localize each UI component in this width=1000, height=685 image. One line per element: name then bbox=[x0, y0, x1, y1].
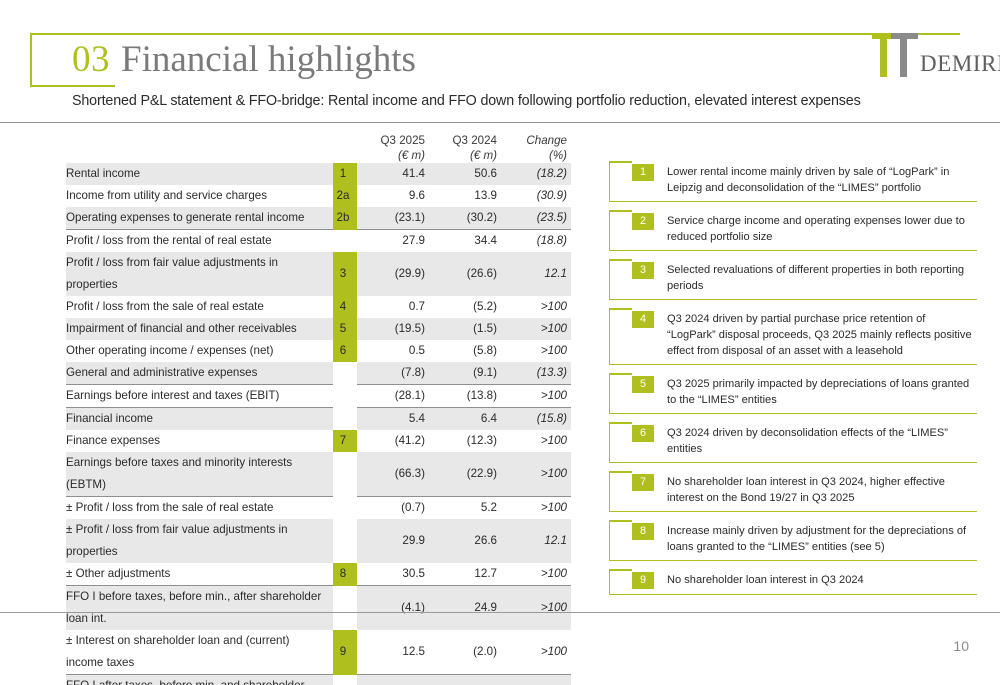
note-inner: 7No shareholder loan interest in Q3 2024… bbox=[610, 474, 977, 506]
row-value-q3-2025: (0.7) bbox=[357, 497, 429, 520]
header-blank-2 bbox=[66, 148, 333, 163]
row-badge-empty bbox=[333, 385, 357, 408]
row-value-q3-2024: (22.9) bbox=[429, 452, 501, 497]
row-value-q3-2025: (66.3) bbox=[357, 452, 429, 497]
row-value-change: >100 bbox=[501, 563, 571, 586]
table-row: Earnings before taxes and minority inter… bbox=[66, 452, 571, 497]
row-value-q3-2024: 12.7 bbox=[429, 563, 501, 586]
row-value-change: >100 bbox=[501, 385, 571, 408]
row-badge-empty bbox=[333, 586, 357, 631]
header-blank-badge-2 bbox=[333, 148, 357, 163]
row-value-q3-2024: (9.1) bbox=[429, 362, 501, 385]
note-badge[interactable]: 9 bbox=[632, 572, 654, 589]
row-value-q3-2024: 26.6 bbox=[429, 519, 501, 563]
row-value-q3-2024: (26.6) bbox=[429, 252, 501, 296]
demire-logo-mark-icon bbox=[872, 33, 918, 77]
row-value-q3-2025: (29.9) bbox=[357, 252, 429, 296]
table-row: Other operating income / expenses (net)6… bbox=[66, 340, 571, 362]
note-inner: 5Q3 2025 primarily impacted by depreciat… bbox=[610, 376, 977, 408]
row-value-change: >100 bbox=[501, 430, 571, 452]
row-value-q3-2024: 24.9 bbox=[429, 586, 501, 631]
row-value-q3-2025: (41.2) bbox=[357, 430, 429, 452]
demire-logo: DEMIRE bbox=[872, 33, 1000, 77]
table-row: Profit / loss from fair value adjustment… bbox=[66, 252, 571, 296]
row-value-q3-2025: 8.3 bbox=[357, 675, 429, 685]
row-value-change: (18.2) bbox=[501, 163, 571, 185]
header-unit-2024: (€ m) bbox=[429, 148, 501, 163]
note-text: Q3 2025 primarily impacted by depreciati… bbox=[667, 376, 977, 408]
row-badge-empty bbox=[333, 519, 357, 563]
row-label: Profit / loss from the rental of real es… bbox=[66, 230, 333, 253]
table-row: ± Profit / loss from fair value adjustme… bbox=[66, 519, 571, 563]
row-label: Rental income bbox=[66, 163, 333, 185]
row-value-change: (13.3) bbox=[501, 362, 571, 385]
row-value-change: >100 bbox=[501, 452, 571, 497]
page-number: 10 bbox=[953, 638, 969, 654]
note-badge[interactable]: 6 bbox=[632, 425, 654, 442]
note-item: 6Q3 2024 driven by deconsolidation effec… bbox=[609, 422, 977, 463]
row-note-badge[interactable]: 2b bbox=[333, 207, 357, 230]
header-row-primary: Q3 2025 Q3 2024 Change bbox=[66, 133, 571, 148]
note-item: 7No shareholder loan interest in Q3 2024… bbox=[609, 471, 977, 512]
row-badge-empty bbox=[333, 362, 357, 385]
row-value-q3-2025: (4.1) bbox=[357, 586, 429, 631]
footer-divider bbox=[0, 612, 1000, 613]
row-label: Finance expenses bbox=[66, 430, 333, 452]
note-inner: 3Selected revaluations of different prop… bbox=[610, 262, 977, 294]
row-label: Impairment of financial and other receiv… bbox=[66, 318, 333, 340]
note-badge[interactable]: 3 bbox=[632, 262, 654, 279]
slide: 03 Financial highlights Shortened P&L st… bbox=[0, 0, 1000, 685]
note-inner: 9No shareholder loan interest in Q3 2024 bbox=[610, 572, 977, 589]
row-label: Operating expenses to generate rental in… bbox=[66, 207, 333, 230]
row-label: Other operating income / expenses (net) bbox=[66, 340, 333, 362]
note-item: 1Lower rental income mainly driven by sa… bbox=[609, 161, 977, 202]
row-value-q3-2025: 0.7 bbox=[357, 296, 429, 318]
table-row: Rental income141.450.6(18.2) bbox=[66, 163, 571, 185]
row-label: ± Interest on shareholder loan and (curr… bbox=[66, 630, 333, 675]
header-top-line bbox=[30, 33, 960, 35]
table-row: ± Interest on shareholder loan and (curr… bbox=[66, 630, 571, 675]
row-value-q3-2025: 0.5 bbox=[357, 340, 429, 362]
row-label: ± Other adjustments bbox=[66, 563, 333, 586]
table-row: Profit / loss from the sale of real esta… bbox=[66, 296, 571, 318]
row-value-q3-2024: 13.9 bbox=[429, 185, 501, 207]
row-value-q3-2025: 27.9 bbox=[357, 230, 429, 253]
note-badge[interactable]: 8 bbox=[632, 523, 654, 540]
note-inner: 8Increase mainly driven by adjustment fo… bbox=[610, 523, 977, 555]
row-label: FFO I after taxes, before min. and share… bbox=[66, 675, 333, 685]
row-value-q3-2024: 6.4 bbox=[429, 408, 501, 431]
table-row: General and administrative expenses(7.8)… bbox=[66, 362, 571, 385]
row-value-q3-2024: 50.6 bbox=[429, 163, 501, 185]
note-item: 9No shareholder loan interest in Q3 2024 bbox=[609, 569, 977, 595]
page-title: 03 Financial highlights bbox=[72, 38, 416, 81]
row-value-q3-2025: 12.5 bbox=[357, 630, 429, 675]
table-row: ± Other adjustments830.512.7>100 bbox=[66, 563, 571, 586]
table-row: ± Profit / loss from the sale of real es… bbox=[66, 497, 571, 520]
note-inner: 6Q3 2024 driven by deconsolidation effec… bbox=[610, 425, 977, 457]
row-value-q3-2025: 9.6 bbox=[357, 185, 429, 207]
row-label: Profit / loss from fair value adjustment… bbox=[66, 252, 333, 296]
note-item: 5Q3 2025 primarily impacted by depreciat… bbox=[609, 373, 977, 414]
note-badge[interactable]: 2 bbox=[632, 213, 654, 230]
note-inner: 1Lower rental income mainly driven by sa… bbox=[610, 164, 977, 196]
row-value-q3-2024: 23.0 bbox=[429, 675, 501, 685]
note-text: Lower rental income mainly driven by sal… bbox=[667, 164, 977, 196]
table-row: Finance expenses7(41.2)(12.3)>100 bbox=[66, 430, 571, 452]
note-badge[interactable]: 1 bbox=[632, 164, 654, 181]
row-note-badge[interactable]: 1 bbox=[333, 163, 357, 185]
row-value-q3-2024: (5.8) bbox=[429, 340, 501, 362]
row-label: Income from utility and service charges bbox=[66, 185, 333, 207]
pl-statement-table: Q3 2025 Q3 2024 Change (€ m) (€ m) (%) R… bbox=[66, 133, 571, 685]
row-value-q3-2024: (5.2) bbox=[429, 296, 501, 318]
row-label: Earnings before taxes and minority inter… bbox=[66, 452, 333, 497]
note-text: Service charge income and operating expe… bbox=[667, 213, 977, 245]
note-text: Q3 2024 driven by deconsolidation effect… bbox=[667, 425, 977, 457]
row-value-q3-2025: (28.1) bbox=[357, 385, 429, 408]
note-item: 4Q3 2024 driven by partial purchase pric… bbox=[609, 308, 977, 365]
row-label: FFO I before taxes, before min., after s… bbox=[66, 586, 333, 631]
note-item: 2Service charge income and operating exp… bbox=[609, 210, 977, 251]
title-text: Financial highlights bbox=[121, 38, 416, 81]
pl-table-container: Q3 2025 Q3 2024 Change (€ m) (€ m) (%) R… bbox=[66, 133, 571, 685]
row-note-badge[interactable]: 3 bbox=[333, 252, 357, 296]
row-value-change: >100 bbox=[501, 296, 571, 318]
table-row: Profit / loss from the rental of real es… bbox=[66, 230, 571, 253]
row-value-change: (23.5) bbox=[501, 207, 571, 230]
row-value-q3-2025: (19.5) bbox=[357, 318, 429, 340]
row-badge-empty bbox=[333, 452, 357, 497]
row-badge-empty bbox=[333, 408, 357, 431]
row-note-badge[interactable]: 6 bbox=[333, 340, 357, 362]
row-badge-empty bbox=[333, 497, 357, 520]
table-row: FFO I after taxes, before min. and share… bbox=[66, 675, 571, 685]
note-badge[interactable]: 5 bbox=[632, 376, 654, 393]
row-value-change: (63.8) bbox=[501, 675, 571, 685]
row-value-change: >100 bbox=[501, 586, 571, 631]
header-blank bbox=[66, 133, 333, 148]
note-item: 3Selected revaluations of different prop… bbox=[609, 259, 977, 300]
row-value-q3-2024: 5.2 bbox=[429, 497, 501, 520]
row-label: Profit / loss from the sale of real esta… bbox=[66, 296, 333, 318]
logo-wordmark: DEMIRE bbox=[920, 52, 1000, 75]
row-value-change: >100 bbox=[501, 340, 571, 362]
row-badge-empty bbox=[333, 675, 357, 685]
note-badge[interactable]: 7 bbox=[632, 474, 654, 491]
row-label: ± Profit / loss from the sale of real es… bbox=[66, 497, 333, 520]
row-value-change: 12.1 bbox=[501, 252, 571, 296]
row-note-badge[interactable]: 5 bbox=[333, 318, 357, 340]
row-value-q3-2025: 41.4 bbox=[357, 163, 429, 185]
row-value-q3-2024: (13.8) bbox=[429, 385, 501, 408]
header-q3-2025: Q3 2025 bbox=[357, 133, 429, 148]
row-note-badge[interactable]: 4 bbox=[333, 296, 357, 318]
note-item: 8Increase mainly driven by adjustment fo… bbox=[609, 520, 977, 561]
row-value-change: 12.1 bbox=[501, 519, 571, 563]
row-badge-empty bbox=[333, 230, 357, 253]
header-row-units: (€ m) (€ m) (%) bbox=[66, 148, 571, 163]
header-unit-2025: (€ m) bbox=[357, 148, 429, 163]
row-value-q3-2025: 29.9 bbox=[357, 519, 429, 563]
row-value-change: >100 bbox=[501, 318, 571, 340]
row-label: ± Profit / loss from fair value adjustme… bbox=[66, 519, 333, 563]
header-q3-2024: Q3 2024 bbox=[429, 133, 501, 148]
row-value-q3-2025: 30.5 bbox=[357, 563, 429, 586]
note-text: No shareholder loan interest in Q3 2024,… bbox=[667, 474, 977, 506]
row-label: General and administrative expenses bbox=[66, 362, 333, 385]
table-row: Impairment of financial and other receiv… bbox=[66, 318, 571, 340]
notes-list: 1Lower rental income mainly driven by sa… bbox=[609, 161, 977, 603]
note-text: Q3 2024 driven by partial purchase price… bbox=[667, 311, 977, 359]
section-number: 03 bbox=[72, 38, 110, 81]
table-row: Earnings before interest and taxes (EBIT… bbox=[66, 385, 571, 408]
logo-pillar-gray bbox=[891, 33, 918, 77]
table-head: Q3 2025 Q3 2024 Change (€ m) (€ m) (%) bbox=[66, 133, 571, 163]
row-note-badge[interactable]: 7 bbox=[333, 430, 357, 452]
note-text: No shareholder loan interest in Q3 2024 bbox=[667, 572, 977, 588]
note-inner: 4Q3 2024 driven by partial purchase pric… bbox=[610, 311, 977, 359]
row-value-q3-2024: (30.2) bbox=[429, 207, 501, 230]
row-value-q3-2025: (23.1) bbox=[357, 207, 429, 230]
row-value-q3-2025: (7.8) bbox=[357, 362, 429, 385]
row-value-change: >100 bbox=[501, 497, 571, 520]
row-note-badge[interactable]: 9 bbox=[333, 630, 357, 675]
table-row: Income from utility and service charges2… bbox=[66, 185, 571, 207]
page-subtitle: Shortened P&L statement & FFO-bridge: Re… bbox=[72, 93, 861, 109]
table-row: FFO I before taxes, before min., after s… bbox=[66, 586, 571, 631]
note-badge[interactable]: 4 bbox=[632, 311, 654, 328]
row-value-change: (30.9) bbox=[501, 185, 571, 207]
note-text: Increase mainly driven by adjustment for… bbox=[667, 523, 977, 555]
row-label: Financial income bbox=[66, 408, 333, 431]
row-value-q3-2024: 34.4 bbox=[429, 230, 501, 253]
row-value-change: (15.8) bbox=[501, 408, 571, 431]
header-unit-change: (%) bbox=[501, 148, 571, 163]
row-value-q3-2024: (2.0) bbox=[429, 630, 501, 675]
table-row: Financial income5.46.4(15.8) bbox=[66, 408, 571, 431]
row-note-badge[interactable]: 2a bbox=[333, 185, 357, 207]
table-row: Operating expenses to generate rental in… bbox=[66, 207, 571, 230]
note-text: Selected revaluations of different prope… bbox=[667, 262, 977, 294]
header-change: Change bbox=[501, 133, 571, 148]
row-value-q3-2024: (1.5) bbox=[429, 318, 501, 340]
note-inner: 2Service charge income and operating exp… bbox=[610, 213, 977, 245]
row-value-q3-2025: 5.4 bbox=[357, 408, 429, 431]
row-value-q3-2024: (12.3) bbox=[429, 430, 501, 452]
table-body: Rental income141.450.6(18.2)Income from … bbox=[66, 163, 571, 685]
row-note-badge[interactable]: 8 bbox=[333, 563, 357, 586]
row-label: Earnings before interest and taxes (EBIT… bbox=[66, 385, 333, 408]
row-value-change: (18.8) bbox=[501, 230, 571, 253]
row-value-change: >100 bbox=[501, 630, 571, 675]
header-divider bbox=[0, 122, 1000, 123]
header-blank-badge bbox=[333, 133, 357, 148]
